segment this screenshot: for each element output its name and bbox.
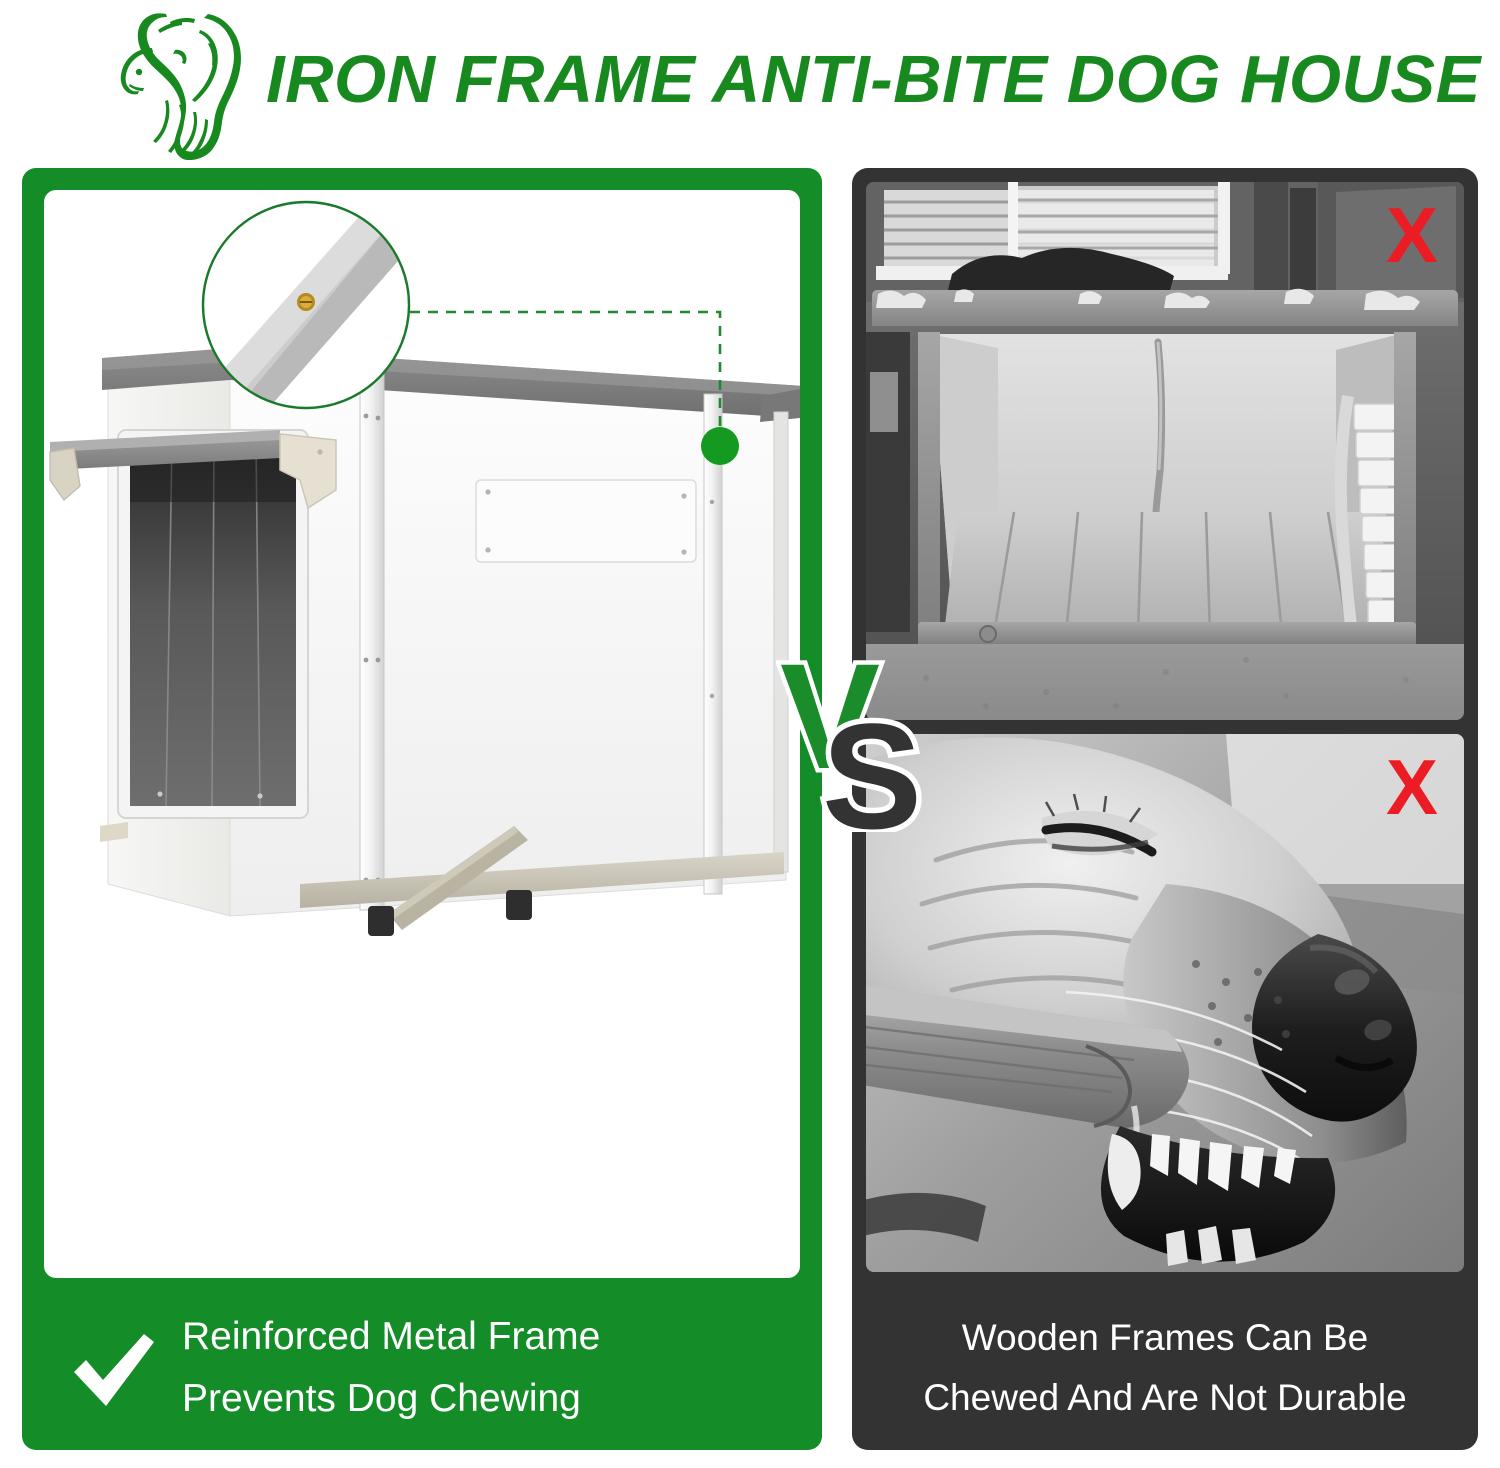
page-title: IRON FRAME ANTI-BITE DOG HOUSE [266, 34, 1426, 126]
vs-badge: V S [776, 636, 926, 832]
bad-caption-line-1: Wooden Frames Can Be [962, 1313, 1369, 1363]
bad-product-caption: Wooden Frames Can Be Chewed And Are Not … [852, 1286, 1478, 1450]
bad-product-panel: X [852, 168, 1478, 1450]
good-caption-line-1: Reinforced Metal Frame [182, 1310, 802, 1364]
chewed-wooden-doghouse-interior-photo: X [866, 182, 1464, 720]
doghouse-illustration [44, 190, 800, 1278]
dog-head-icon [112, 8, 252, 160]
dog-chewing-wooden-board-photo: X [866, 734, 1464, 1272]
good-product-caption: Reinforced Metal Frame Prevents Dog Chew… [22, 1286, 822, 1450]
check-mark-icon [70, 1332, 158, 1410]
bad-caption-line-2: Chewed And Are Not Durable [923, 1373, 1406, 1423]
good-product-panel: Reinforced Metal Frame Prevents Dog Chew… [22, 168, 822, 1450]
product-illustration-area [44, 190, 800, 1278]
vs-badge-s: S [822, 692, 922, 832]
green-dot-marker-icon [701, 427, 739, 465]
x-mark-icon-top: X [1386, 196, 1438, 274]
page-header: IRON FRAME ANTI-BITE DOG HOUSE [0, 0, 1500, 168]
good-caption-line-2: Prevents Dog Chewing [182, 1372, 802, 1426]
x-mark-icon-bottom: X [1386, 748, 1438, 826]
